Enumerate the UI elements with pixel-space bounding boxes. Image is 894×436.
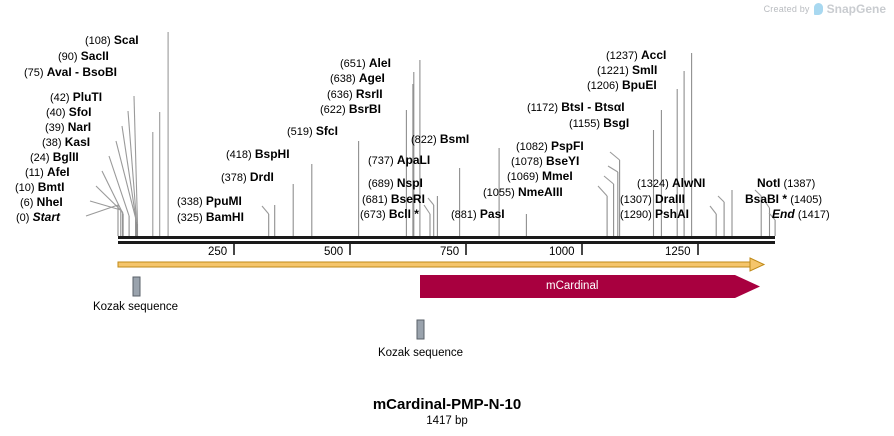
star-marker: * bbox=[779, 192, 787, 206]
orf-full-length-arrow[interactable] bbox=[118, 258, 764, 271]
site-label-ppumi[interactable]: (338) PpuMI bbox=[177, 195, 242, 208]
site-label-start[interactable]: (0) Start bbox=[16, 211, 60, 224]
site-label-sacii[interactable]: (90) SacII bbox=[58, 50, 109, 63]
site-label-btsi-btsai[interactable]: (1172) BtsI - BtsαI bbox=[527, 101, 625, 114]
site-label-bseri[interactable]: (681) BseRI bbox=[362, 193, 425, 206]
site-label-nari[interactable]: (39) NarI bbox=[45, 121, 91, 134]
feature-kozak-1[interactable] bbox=[133, 277, 140, 296]
site-label-bsabi[interactable]: BsaBI * (1405) bbox=[745, 193, 822, 206]
site-label-noti[interactable]: NotI (1387) bbox=[757, 177, 815, 190]
site-label-alwni[interactable]: (1324) AlwNI bbox=[637, 177, 705, 190]
ruler-ticks bbox=[234, 244, 698, 255]
feature-label-mcardinal: mCardinal bbox=[546, 280, 598, 292]
site-label-acci[interactable]: (1237) AccI bbox=[606, 49, 666, 62]
sequence-backbone bbox=[118, 236, 775, 244]
site-label-bglii[interactable]: (24) BglII bbox=[30, 151, 79, 164]
star-marker: * bbox=[411, 207, 419, 221]
site-label-bsrbi[interactable]: (622) BsrBI bbox=[320, 103, 381, 116]
site-label-sfoi[interactable]: (40) SfoI bbox=[46, 106, 91, 119]
site-label-avai-bsobi[interactable]: (75) AvaI - BsoBI bbox=[24, 66, 117, 79]
site-label-scai[interactable]: (108) ScaI bbox=[85, 34, 139, 47]
site-label-bsmi[interactable]: (822) BsmI bbox=[411, 133, 469, 146]
site-label-sfci[interactable]: (519) SfcI bbox=[287, 125, 338, 138]
site-label-apali[interactable]: (737) ApaLI bbox=[368, 154, 430, 167]
site-label-draiii[interactable]: (1307) DraIII bbox=[620, 193, 685, 206]
leader-lines-left-cluster bbox=[86, 96, 138, 224]
site-label-pluti[interactable]: (42) PluTI bbox=[50, 91, 102, 104]
site-label-nhei[interactable]: (6) NheI bbox=[20, 196, 63, 209]
site-label-pshai[interactable]: (1290) PshAI bbox=[620, 208, 689, 221]
ruler-label-1000: 1000 bbox=[549, 246, 575, 258]
feature-kozak-2[interactable] bbox=[417, 320, 424, 339]
site-label-mmei[interactable]: (1069) MmeI bbox=[507, 170, 573, 183]
site-label-bsphi[interactable]: (418) BspHI bbox=[226, 148, 290, 161]
site-label-agei[interactable]: (638) AgeI bbox=[330, 72, 385, 85]
page-subtitle: 1417 bp bbox=[0, 415, 894, 427]
site-label-smli[interactable]: (1221) SmlI bbox=[597, 64, 657, 77]
site-label-bsgi[interactable]: (1155) BsgI bbox=[569, 117, 629, 130]
site-label-kasi[interactable]: (38) KasI bbox=[42, 136, 90, 149]
site-label-bmti[interactable]: (10) BmtI bbox=[15, 181, 64, 194]
feature-label-kozak-1: Kozak sequence bbox=[83, 301, 188, 313]
site-label-pasi[interactable]: (881) PasI bbox=[451, 208, 505, 221]
site-label-rsrii[interactable]: (636) RsrII bbox=[327, 88, 383, 101]
ruler-label-1250: 1250 bbox=[665, 246, 691, 258]
site-label-drdi[interactable]: (378) DrdI bbox=[221, 171, 274, 184]
plasmid-linear-map bbox=[0, 0, 894, 436]
site-label-nmeaiii[interactable]: (1055) NmeAIII bbox=[483, 186, 563, 199]
site-label-bcli[interactable]: (673) BclI * bbox=[360, 208, 419, 221]
site-label-nspi[interactable]: (689) NspI bbox=[368, 177, 423, 190]
site-label-alei[interactable]: (651) AleI bbox=[340, 57, 391, 70]
ruler-label-750: 750 bbox=[440, 246, 459, 258]
feature-label-kozak-2: Kozak sequence bbox=[368, 347, 473, 359]
site-label-afei[interactable]: (11) AfeI bbox=[25, 166, 70, 179]
ruler-label-500: 500 bbox=[324, 246, 343, 258]
ruler-label-250: 250 bbox=[208, 246, 227, 258]
site-label-bamhi[interactable]: (325) BamHI bbox=[177, 211, 244, 224]
site-label-bseyi[interactable]: (1078) BseYI bbox=[511, 155, 579, 168]
site-label-pspfi[interactable]: (1082) PspFI bbox=[516, 140, 584, 153]
site-label-bpuei[interactable]: (1206) BpuEI bbox=[587, 79, 657, 92]
page-title: mCardinal-PMP-N-10 bbox=[0, 396, 894, 413]
site-label-end[interactable]: End (1417) bbox=[772, 208, 830, 221]
